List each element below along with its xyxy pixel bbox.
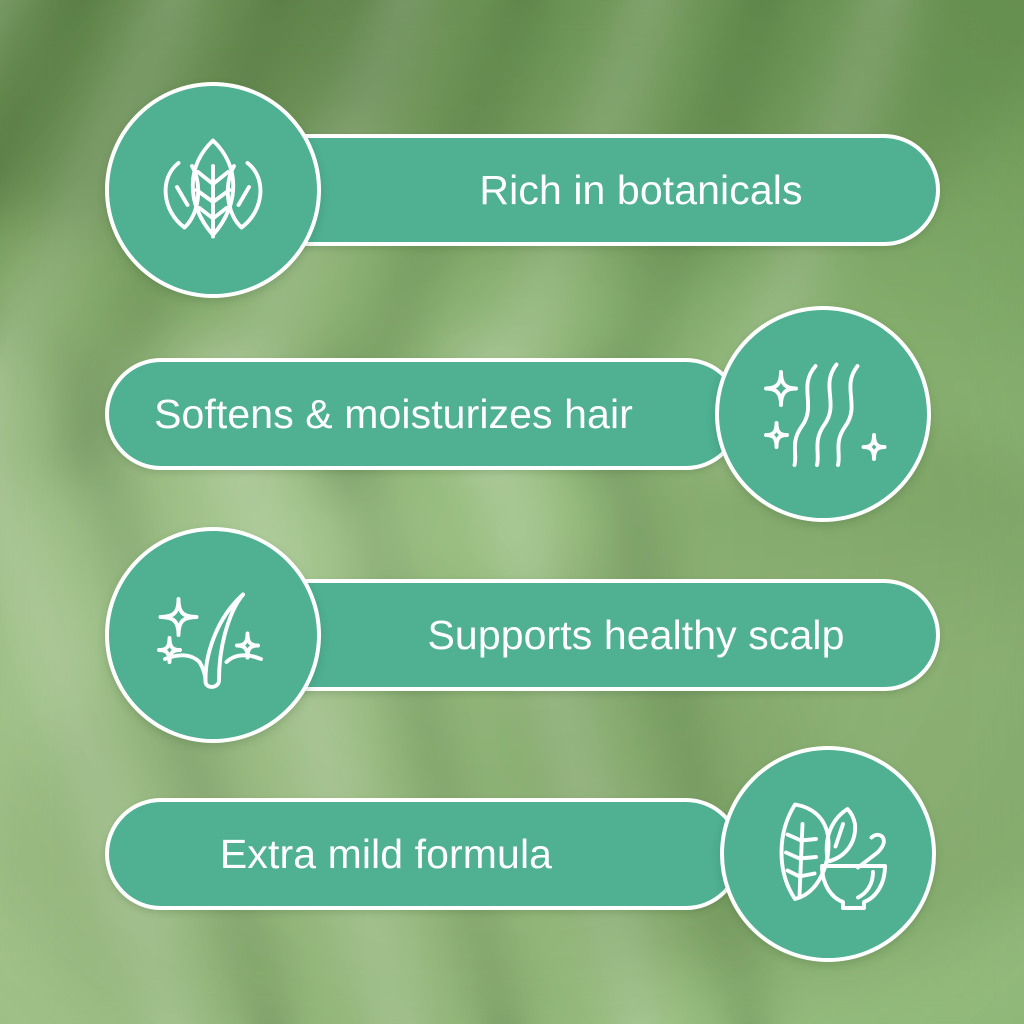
benefit-icon-badge[interactable] [105,527,321,743]
benefit-label: Extra mild formula [109,831,738,878]
benefit-label: Rich in botanicals [236,167,936,214]
benefit-pill[interactable]: Softens & moisturizes hair [105,358,742,470]
benefit-row: Supports healthy scalp [0,517,1024,747]
mortar-pestle-leaf-icon [753,779,903,929]
benefit-label: Softens & moisturizes hair [109,391,738,438]
benefits-infographic: Rich in botanicals [0,0,1024,1024]
benefit-pill[interactable]: Extra mild formula [105,798,742,910]
shiny-hair-strands-icon [748,339,898,489]
hair-follicle-scalp-icon [138,560,288,710]
benefit-icon-badge[interactable] [105,82,321,298]
benefit-row: Rich in botanicals [0,70,1024,300]
leaf-trio-icon [138,115,288,265]
benefit-row: Extra mild formula [0,740,1024,970]
benefit-row: Softens & moisturizes hair [0,295,1024,525]
benefit-icon-badge[interactable] [715,306,931,522]
benefit-pill[interactable]: Rich in botanicals [232,134,940,246]
benefit-icon-badge[interactable] [720,746,936,962]
benefit-label: Supports healthy scalp [236,612,936,659]
benefit-pill[interactable]: Supports healthy scalp [232,579,940,691]
